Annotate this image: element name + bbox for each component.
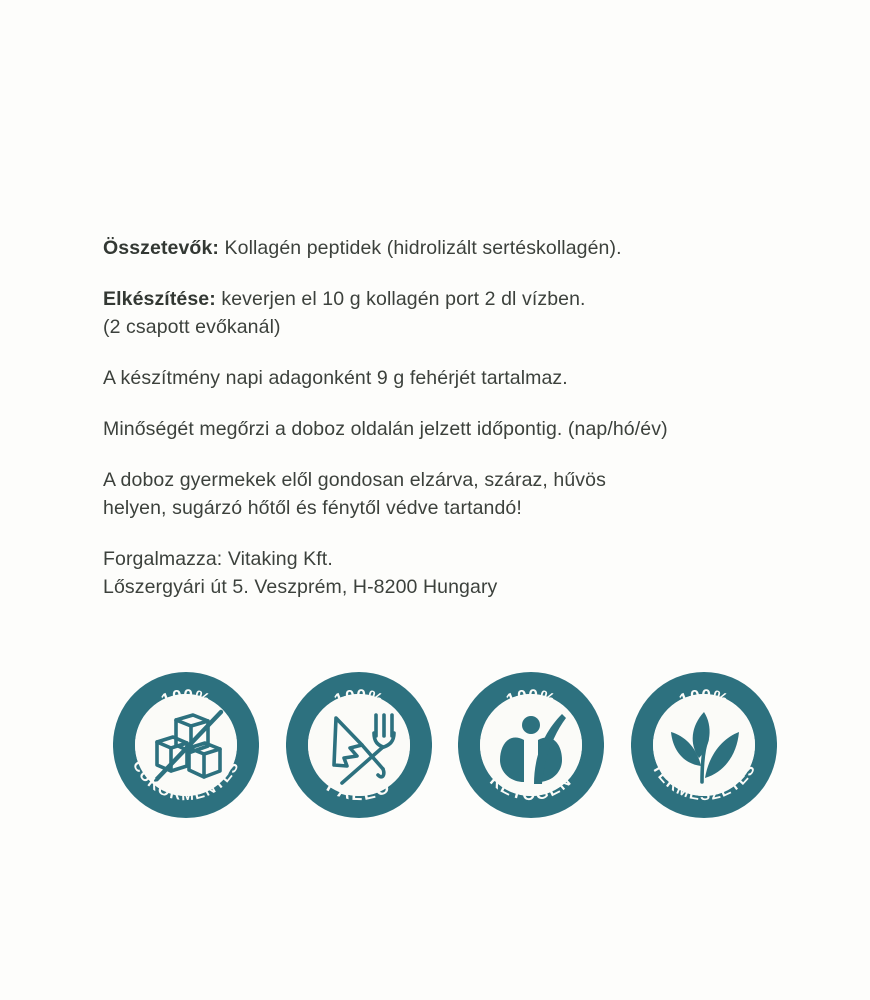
paragraph-best-before: Minőségét megőrzi a doboz oldalán jelzet… (103, 415, 803, 443)
preparation-second-line: (2 csapott evőkanál) (103, 313, 803, 341)
certification-badge-row: 100% CUKORMENTES (113, 670, 777, 820)
badge-ketogen: 100% KETOGÉN (458, 670, 604, 820)
badge-cukormentes: 100% CUKORMENTES (113, 670, 259, 820)
badge-paleo: 100% PALEO (286, 670, 432, 820)
ingredients-body-text: Kollagén peptidek (hidrolizált sertéskol… (219, 237, 622, 259)
paragraph-distributor: Forgalmazza: Vitaking Kft.Lőszergyári út… (103, 545, 803, 601)
product-label-panel: Összetevők: Kollagén peptidek (hidrolizá… (0, 0, 870, 1000)
storage-warning-second-line: helyen, sugárzó hőtől és fénytől védve t… (103, 494, 803, 522)
paragraph-ingredients: Összetevők: Kollagén peptidek (hidrolizá… (103, 234, 803, 262)
paragraph-preparation: Elkészítése: keverjen el 10 g kollagén p… (103, 285, 803, 341)
protein-content-text: A készítmény napi adagonként 9 g fehérjé… (103, 367, 568, 389)
preparation-lead-label: Elkészítése: (103, 288, 216, 310)
distributor-address-text: Lőszergyári út 5. Veszprém, H-8200 Hunga… (103, 573, 803, 601)
preparation-body-text: keverjen el 10 g kollagén port 2 dl vízb… (216, 288, 586, 310)
storage-warning-text: A doboz gyermekek elől gondosan elzárva,… (103, 469, 606, 491)
badge-termeszetes: 100% TERMÉSZETES (631, 670, 777, 820)
paragraph-protein-content: A készítmény napi adagonként 9 g fehérjé… (103, 364, 803, 392)
paragraph-storage-warning: A doboz gyermekek elől gondosan elzárva,… (103, 466, 803, 522)
distributor-name-text: Forgalmazza: Vitaking Kft. (103, 548, 333, 570)
label-text-block: Összetevők: Kollagén peptidek (hidrolizá… (103, 234, 803, 601)
ingredients-lead-label: Összetevők: (103, 237, 219, 259)
best-before-text: Minőségét megőrzi a doboz oldalán jelzet… (103, 418, 668, 440)
